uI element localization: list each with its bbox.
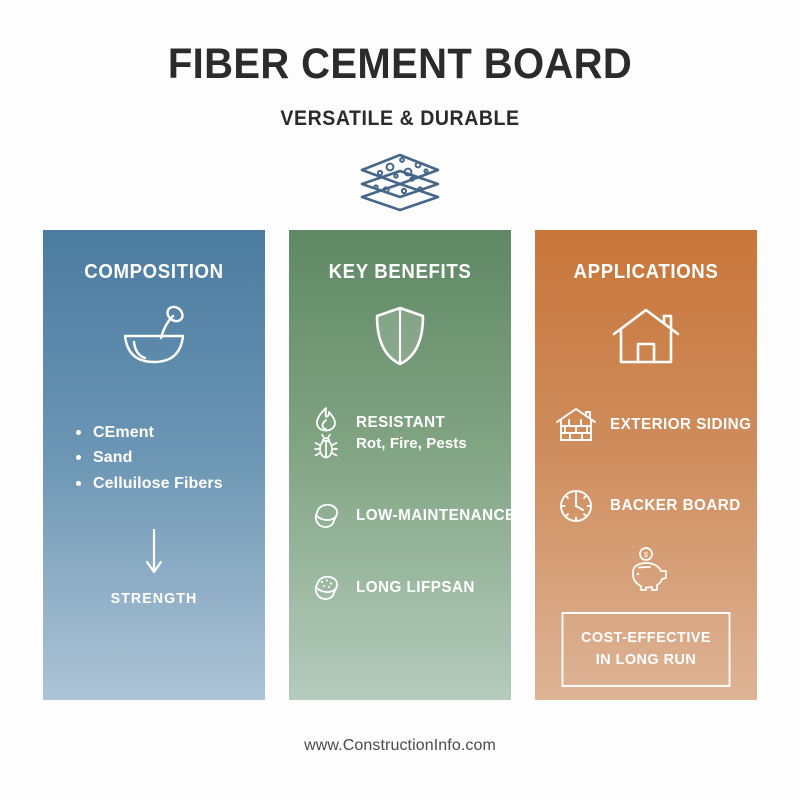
cost-icon-container: $ [547,546,745,594]
feature-row-resistant[interactable]: RESISTANT Rot, Fire, Pests [301,406,499,460]
column-title-applications: APPLICATIONS [554,261,738,284]
feature-label: EXTERIOR SIDING [610,416,751,434]
feature-text-long-lifespan: LONG LIFPSAN [356,579,481,597]
feature-icons-low-maintenance [309,502,343,530]
column-title-key-benefits: KEY BENEFITS [308,261,492,284]
composition-result-label: STRENGTH [60,590,248,607]
badge-line-1: COST-EFFECTIVE [569,627,723,649]
column-title-composition: COMPOSITION [62,261,246,284]
mixing-bowl-icon [117,304,191,368]
column-hero-icon-applications [547,304,745,368]
flame-icon [314,406,338,432]
feature-row-long-lifespan[interactable]: LONG LIFPSAN [301,574,499,602]
infographic-poster: FIBER CEMENT BOARD VERSATILE & DURABLE [0,0,800,800]
column-hero-icon-key-benefits [301,304,499,368]
bug-icon [313,434,339,460]
column-key-benefits[interactable]: KEY BENEFITS [289,230,511,700]
shield-icon [371,304,429,368]
svg-text:$: $ [644,552,648,559]
feature-row-backer-board[interactable]: BACKER BOARD [547,488,745,524]
piggy-bank-icon: $ [619,546,673,594]
feature-text-exterior-siding: EXTERIOR SIDING [610,416,757,434]
feature-row-low-maintenance[interactable]: LOW-MAINTENANCE [301,502,499,530]
clock-icon [558,488,594,524]
feature-icons-long-lifespan [309,574,343,602]
list-item: Sand [73,445,253,470]
feature-icons-exterior-siding [555,406,597,444]
layered-board-icon [346,146,454,218]
badge-line-2: IN LONG RUN [569,649,723,671]
hero-icon-container [0,146,800,218]
brick-house-icon [555,406,597,444]
house-icon [610,304,682,368]
feature-icons-resistant [309,406,343,460]
feature-text-backer-board: BACKER BOARD [610,497,748,515]
page-title: FIBER CEMENT BOARD [28,42,772,87]
composition-bullet-list: CEment Sand Celluilose Fibers [73,420,253,496]
column-hero-icon-composition [55,304,253,368]
feature-row-exterior-siding[interactable]: EXTERIOR SIDING [547,406,745,444]
feature-label: LOW-MAINTENANCE [356,507,511,525]
column-composition[interactable]: COMPOSITION CEment Sand Cel [43,230,265,700]
speckled-sponge-icon [311,574,341,602]
list-item: CEment [73,420,253,445]
feature-label: LONG LIFPSAN [356,579,475,597]
feature-label: RESISTANT [356,414,461,432]
list-item: Celluilose Fibers [73,471,253,496]
sponge-icon [311,502,341,530]
page-subtitle: VERSATILE & DURABLE [28,107,772,131]
header: FIBER CEMENT BOARD VERSATILE & DURABLE [0,42,800,131]
columns-container: COMPOSITION CEment Sand Cel [43,230,757,700]
arrow-container [55,528,253,576]
feature-sublabel: Rot, Fire, Pests [356,435,467,452]
feature-text-low-maintenance: LOW-MAINTENANCE [356,507,511,525]
footer-website[interactable]: www.ConstructionInfo.com [0,737,800,755]
feature-label: BACKER BOARD [610,497,741,515]
feature-icons-backer-board [555,488,597,524]
cost-effective-badge: COST-EFFECTIVE IN LONG RUN [562,612,731,687]
feature-text-resistant: RESISTANT Rot, Fire, Pests [356,414,467,452]
column-applications[interactable]: APPLICATIONS [535,230,757,700]
arrow-down-icon [144,528,164,576]
